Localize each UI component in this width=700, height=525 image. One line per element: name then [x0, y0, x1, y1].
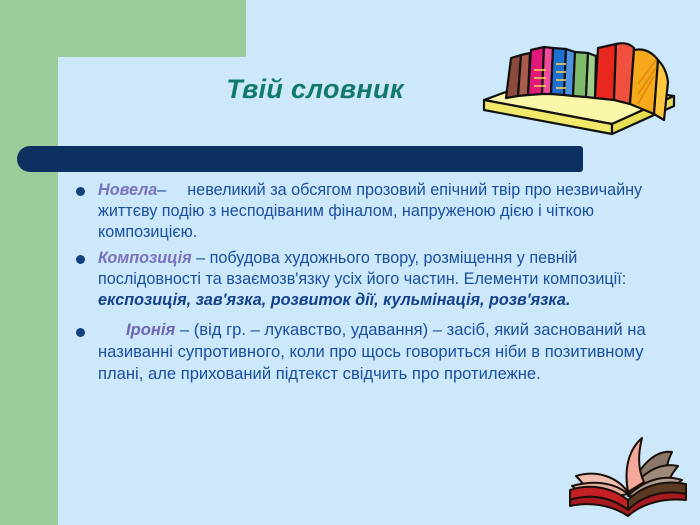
bullet-dot-icon: [76, 187, 85, 196]
list-item: Новела– невеликий за обсягом прозовий еп…: [70, 180, 656, 243]
term-novela: Новела: [98, 181, 157, 199]
term-dash: –: [157, 181, 171, 199]
slide-canvas: Твій словник: [0, 0, 700, 525]
term-ironiya: Іронія: [126, 320, 175, 339]
open-book-icon: [566, 424, 698, 524]
page-title: Твій словник: [150, 74, 480, 105]
bullet-dot-icon: [76, 328, 85, 337]
bullet-dot-icon: [76, 255, 85, 264]
definition-novela: невеликий за обсягом прозовий епічний тв…: [98, 181, 642, 241]
term-kompozytsiya: Композиція: [98, 249, 192, 267]
definition-ironiya: – (від гр. – лукавство, удавання) – засі…: [98, 320, 646, 382]
books-on-shelf-icon: [478, 26, 684, 138]
title-underline-bar: [17, 146, 583, 172]
composition-elements: експозиція, зав'язка, розвиток дії, куль…: [98, 291, 570, 309]
definitions-list: Новела– невеликий за обсягом прозовий еп…: [70, 180, 656, 389]
background-green-sidebar-band: [0, 0, 58, 525]
list-item: Композиція – побудова художнього твору, …: [70, 248, 656, 311]
list-item: Іронія – (від гр. – лукавство, удавання)…: [70, 319, 656, 384]
